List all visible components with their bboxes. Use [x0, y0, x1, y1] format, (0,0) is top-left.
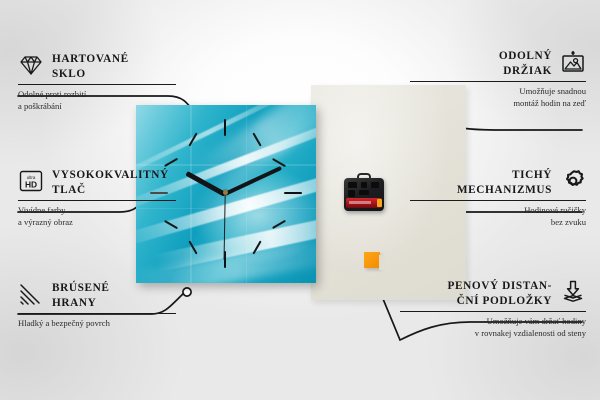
callout-foam-spacers: PENOVÝ DISTAN- ČNÍ PODLOŽKY Umožňuje vám… [386, 279, 586, 339]
callout-title-line1: ODOLNÝ [499, 49, 552, 64]
callout-sub-line1: Hladký a bezpečný povrch [18, 318, 194, 329]
callout-title-line2: DRŽIAK [503, 64, 552, 79]
clock-center-pivot [223, 190, 228, 195]
callout-title-line2: MECHANIZMUS [457, 183, 552, 198]
callout-divider [18, 84, 176, 85]
svg-text:HD: HD [25, 180, 37, 190]
callout-title-line2: ČNÍ PODLOŽKY [457, 294, 552, 309]
callout-divider [18, 200, 176, 201]
mechanism-vent-1 [348, 182, 357, 188]
battery-label [349, 201, 371, 204]
diagonal-lines-icon [18, 281, 44, 307]
clock-tick-10 [164, 158, 178, 167]
callout-durable-holder: ODOLNÝ DRŽIAK Umožňuje snadnou montáž ho… [396, 49, 586, 109]
callout-sub-line1: Hodinové ručičky [396, 205, 586, 216]
callout-divider [410, 81, 586, 82]
callout-sub-line2: v rovnakej vzdialenosti od steny [386, 328, 586, 339]
callout-tempered-glass: HARTOVANÉ SKLO Odolné proti rozbití a po… [18, 52, 194, 112]
callout-title-line1: VYSOKOKVALITNÝ [52, 168, 169, 183]
mechanism-housing [344, 178, 384, 211]
callout-sub-line1: Umožňuje vám držať hodiny [386, 316, 586, 327]
callout-silent-mechanism: TICHÝ MECHANIZMUS Hodinové ručičky bez z… [396, 168, 586, 228]
mechanism-vent-4 [348, 190, 355, 197]
callout-title-line2: HRANY [52, 296, 110, 311]
mechanism-vent-3 [371, 182, 379, 188]
framed-picture-icon [560, 49, 586, 75]
callout-sub-line2: montáž hodin na zeď [396, 98, 586, 109]
callout-sub-line2: bez zvuku [396, 217, 586, 228]
callout-ground-edges: BRÚSENÉ HRANY Hladký a bezpečný povrch [18, 281, 194, 330]
battery [346, 198, 382, 208]
callout-sub-line1: Vivídne farby [18, 205, 194, 216]
mechanism-vent-2 [361, 182, 367, 188]
layers-arrow-icon [560, 279, 586, 305]
glass-reflection-v2 [246, 105, 247, 283]
callout-title-line1: BRÚSENÉ [52, 281, 110, 296]
callout-high-quality-print: ultra HD VYSOKOKVALITNÝ TLAČ Vivídne far… [18, 168, 194, 228]
callout-divider [410, 200, 586, 201]
diamond-icon [18, 52, 44, 78]
callout-title-line2: SKLO [52, 67, 129, 82]
callout-title-line1: TICHÝ [512, 168, 552, 183]
callout-divider [18, 313, 176, 314]
callout-title-line1: HARTOVANÉ [52, 52, 129, 67]
callout-sub-line2: a poškrábání [18, 101, 194, 112]
callout-title-line1: PENOVÝ DISTAN- [447, 279, 552, 294]
gear-icon [560, 168, 586, 194]
foam-spacer-pad [364, 252, 380, 268]
callout-divider [400, 311, 586, 312]
callout-sub-line1: Umožňuje snadnou [396, 86, 586, 97]
mechanism-vent-5 [359, 190, 369, 195]
clock-mechanism [344, 173, 384, 211]
callout-sub-line1: Odolné proti rozbití [18, 89, 194, 100]
ultra-hd-icon: ultra HD [18, 168, 44, 194]
callout-title-line2: TLAČ [52, 183, 169, 198]
product-infographic: HARTOVANÉ SKLO Odolné proti rozbití a po… [0, 0, 600, 400]
callout-sub-line2: a výrazný obraz [18, 217, 194, 228]
